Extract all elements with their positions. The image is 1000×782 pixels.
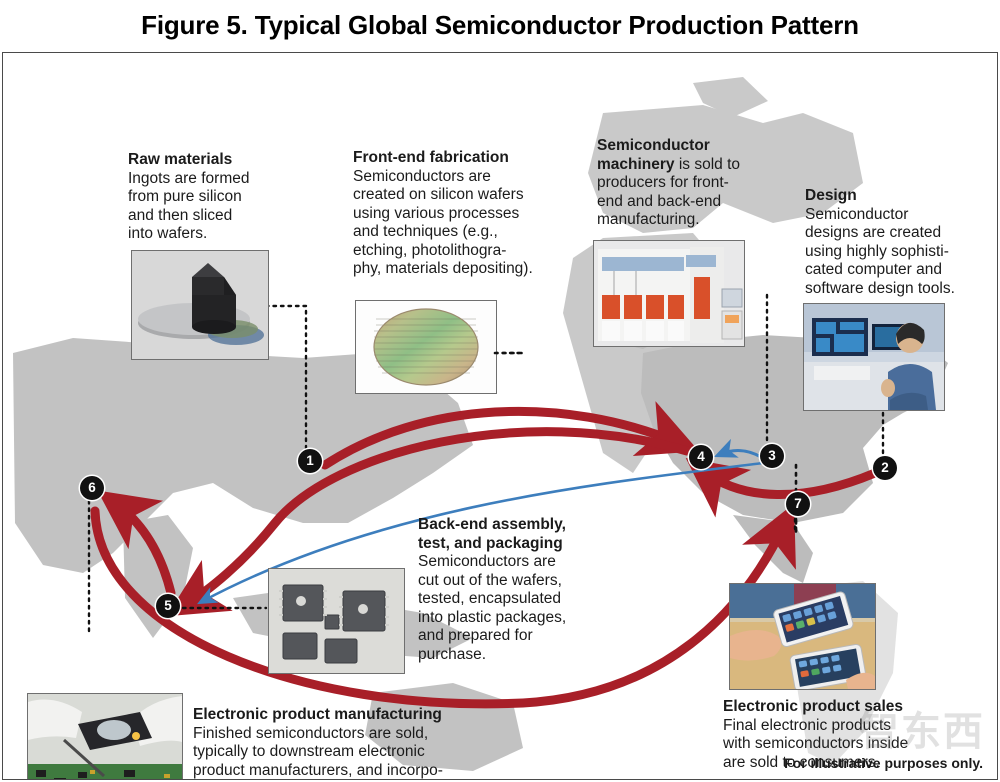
figure-root: Figure 5. Typical Global Semiconductor P… [0,0,1000,782]
figure-panel: Raw materials Ingots are formed from pur… [2,52,998,780]
marker-7[interactable]: 7 [786,492,810,516]
leader-overlay [3,53,995,777]
marker-1[interactable]: 1 [298,449,322,473]
figure-title: Figure 5. Typical Global Semiconductor P… [0,4,1000,46]
marker-6[interactable]: 6 [80,476,104,500]
marker-5[interactable]: 5 [156,594,180,618]
marker-3[interactable]: 3 [760,444,784,468]
marker-4[interactable]: 4 [689,445,713,469]
marker-2[interactable]: 2 [873,456,897,480]
